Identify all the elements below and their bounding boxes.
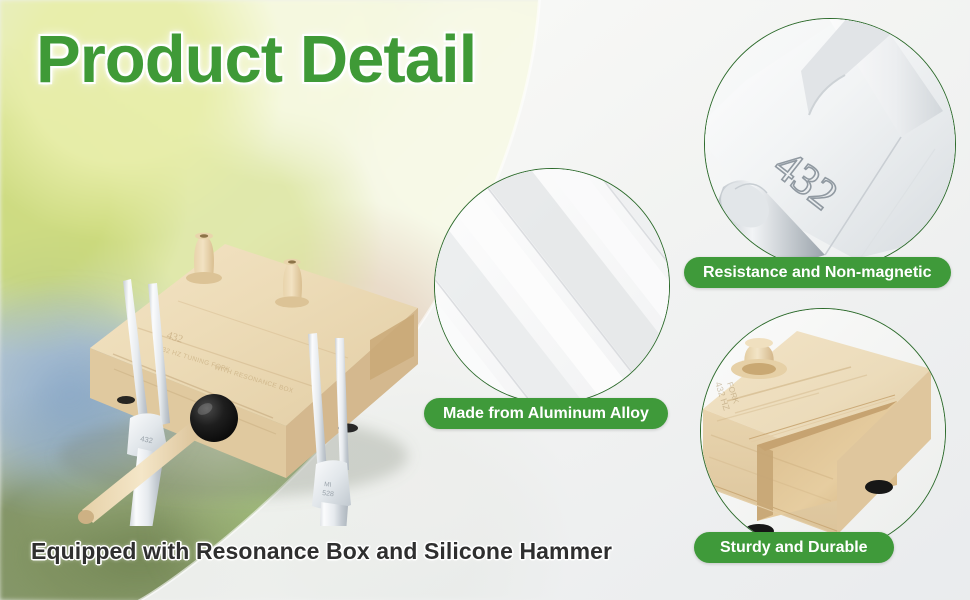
badge-resistance-and-non-magnetic[interactable]: Resistance and Non-magnetic bbox=[684, 257, 951, 288]
product-detail-banner: 432 432 HZ TUNING FORK WITH RESONANCE BO… bbox=[0, 0, 970, 600]
page-title: Product Detail bbox=[36, 26, 476, 93]
bottom-caption: Equipped with Resonance Box and Silicone… bbox=[31, 538, 612, 565]
inset-circle-resistance-non-magnetic: 432 bbox=[704, 18, 956, 270]
hammer-head bbox=[190, 394, 238, 442]
badge-made-from-aluminum-alloy[interactable]: Made from Aluminum Alloy bbox=[424, 398, 668, 429]
hero-product-photo: 432 432 HZ TUNING FORK WITH RESONANCE BO… bbox=[18, 126, 448, 526]
inset-circle-sturdy-durable: 432 HZ FORK bbox=[700, 308, 946, 554]
inset-circle-aluminum-alloy bbox=[434, 168, 670, 404]
svg-text:MI: MI bbox=[324, 481, 332, 489]
badge-sturdy-and-durable[interactable]: Sturdy and Durable bbox=[694, 532, 894, 563]
svg-text:528: 528 bbox=[322, 490, 334, 498]
